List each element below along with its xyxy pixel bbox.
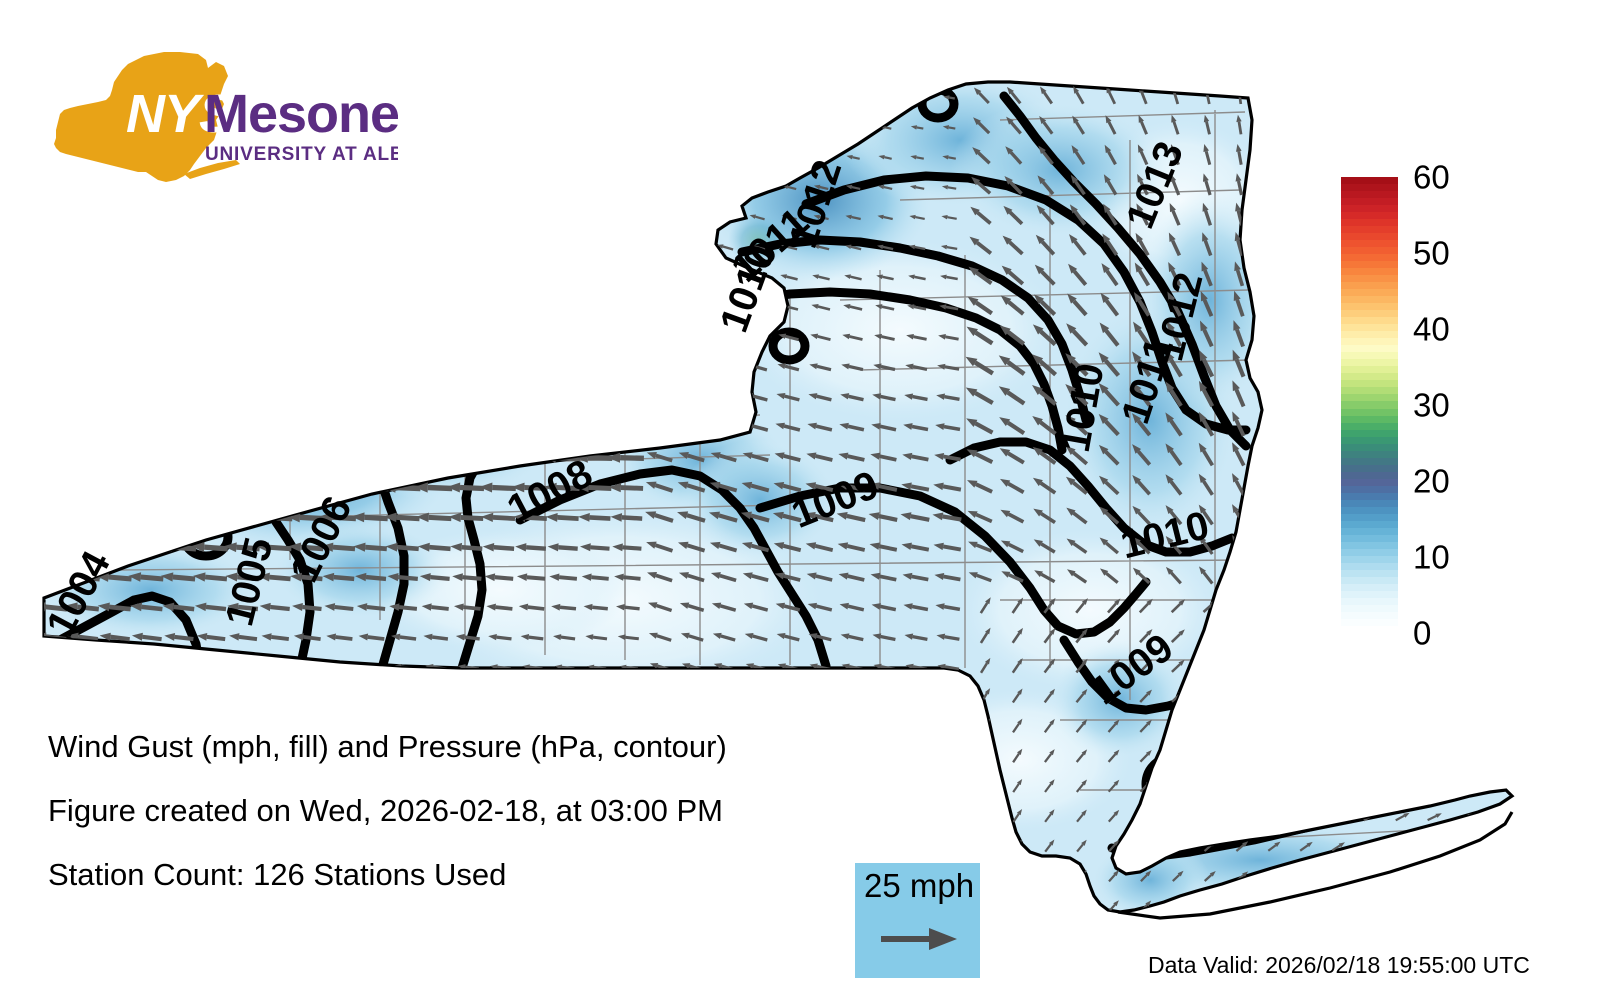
wind-arrow [29,541,69,553]
wind-arrow [575,214,611,225]
wind-arrow [1077,899,1088,912]
wind-arrow [1332,261,1339,286]
wind-arrow [1330,349,1339,377]
wind-arrow [1170,85,1178,104]
wind-arrow [877,784,893,790]
wind-arrow [615,96,640,104]
wind-arrow [1135,143,1147,164]
wind-arrow [1329,379,1338,407]
wind-arrow [510,452,549,463]
wind-arrow [1133,231,1148,255]
wind-arrow [614,573,641,581]
wind-arrow [909,214,925,220]
wind-arrow [223,541,259,552]
wind-arrow [512,185,547,196]
wind-arrow [1109,869,1121,882]
wind-arrow [645,478,673,490]
wind-arrow [981,657,992,673]
wind-arrow [1163,472,1181,494]
wind-arrow [909,814,925,820]
wind-arrow [648,390,672,400]
wind-arrow [1172,688,1186,701]
wind-arrow [1491,662,1508,670]
wind-arrow [1201,172,1210,195]
wind-arrow [599,362,648,376]
wind-arrow [843,723,862,730]
wind-arrow [682,331,703,340]
wind-arrow [1099,232,1116,255]
wind-arrow [1140,627,1154,642]
wind-arrow [54,391,104,405]
wind-arrow [648,630,671,640]
wind-arrow [719,93,731,99]
wind-arrow [360,663,383,670]
wind-arrow [514,155,546,165]
wind-arrow [319,512,356,523]
wind-arrow [777,661,799,669]
wind-arrow [90,481,134,493]
wind-arrow [966,508,992,522]
wind-arrow [1364,841,1378,851]
wind-arrow [1268,144,1274,165]
wind-arrow [91,184,133,197]
wind-arrow [814,874,828,880]
wind-arrow [438,391,488,405]
contour-label-1011: 1011 [1113,333,1182,429]
wind-arrow [1268,659,1283,671]
wind-arrow [1364,811,1379,821]
wind-arrow [606,244,644,255]
wind-arrow [869,480,897,490]
wind-arrow [813,813,828,819]
wind-arrow [121,451,167,464]
wind-arrow [1329,441,1338,466]
wind-arrow [583,603,608,610]
wind-arrow [903,602,928,610]
wind-arrow [1014,898,1024,911]
wind-arrow [1296,471,1307,495]
wind-arrow [1108,657,1122,672]
wind-arrow [126,541,164,552]
wind-arrow [909,184,924,190]
wind-arrow [1332,870,1346,880]
wind-arrow [118,332,168,346]
wind-arrow [1003,144,1021,163]
wind-arrow [579,155,610,165]
wind-arrow [998,292,1023,314]
wind-arrow [968,569,992,580]
wind-arrow [996,352,1024,374]
wind-arrow [982,838,992,852]
wind-arrow [1045,657,1057,672]
wind-arrow [652,272,670,280]
wind-arrow [678,449,705,460]
wind-arrow [198,662,224,670]
wind-arrow [473,303,519,316]
wind-arrow [1102,143,1115,164]
wind-arrow [1230,564,1244,584]
wind-arrow [1130,319,1149,345]
wind-arrow [1167,202,1179,225]
wind-arrow [877,814,893,820]
wind-arrow [1493,117,1503,133]
wind-arrow [544,482,580,492]
wind-arrow [941,214,957,219]
wind-arrow [1491,752,1507,760]
wind-arrow [31,571,68,582]
wind-arrow [1269,85,1274,103]
wind-arrow [577,185,611,195]
wind-arrow [505,303,550,316]
wind-arrow [1077,778,1089,792]
colorbar-tick-0: 0 [1413,617,1431,650]
nys-mesonet-logo: NYS Mesonet UNIVERSITY AT ALBANY [48,48,398,183]
wind-arrow [981,626,993,643]
wind-arrow [1202,114,1209,134]
wind-arrow [777,361,799,369]
wind-arrow [1332,780,1347,791]
wind-arrow [1262,441,1275,466]
wind-arrow [1329,502,1338,525]
wind-arrow [1131,290,1149,316]
wind-arrow [379,244,421,257]
wind-arrow [1036,144,1053,164]
wind-arrow [1130,504,1149,524]
wind-arrow [324,602,353,611]
wind-arrow [193,571,227,581]
wind-arrow [1332,232,1339,256]
wind-arrow [653,213,669,220]
wind-arrow [807,601,832,610]
wind-arrow [502,421,552,435]
data-valid-timestamp: Data Valid: 2026/02/18 19:55:00 UTC [1148,952,1530,978]
wind-arrow [1363,690,1379,701]
wind-arrow [377,273,422,286]
wind-arrow [470,421,520,435]
contour-label-1012: 1012 [781,155,850,253]
wind-arrow [1333,174,1339,195]
wind-arrow [1130,473,1150,495]
wind-arrow [218,451,262,463]
wind-arrow [1002,174,1021,194]
wind-arrow [1204,749,1218,761]
wind-arrow [647,420,672,431]
wind-arrow [214,362,264,376]
wind-arrow [542,452,580,463]
wind-arrow [582,96,608,104]
wind-arrow [966,264,991,284]
wind-arrow [613,126,641,135]
wind-arrow [1300,202,1307,225]
wind-arrow [406,391,456,405]
wind-arrow [185,243,231,257]
wind-arrow [1364,871,1378,881]
wind-arrow [813,783,829,789]
wind-arrow [810,692,830,699]
wind-arrow [1267,629,1283,642]
wind-arrow [934,571,961,580]
wind-arrow [677,539,705,551]
wind-arrow [56,451,103,464]
wind-arrow [718,153,732,159]
wind-arrow [416,512,451,522]
wind-arrow [1162,410,1181,435]
wind-arrow [1141,779,1154,792]
wind-arrow [900,510,930,520]
wind-arrow [488,633,512,640]
wind-arrow [874,693,894,700]
wind-arrow [1460,902,1474,910]
wind-arrow [412,244,454,257]
wind-arrow [1232,260,1243,286]
wind-arrow [981,687,992,703]
wind-arrow [870,451,897,460]
wind-arrow [1070,114,1084,134]
contour-label-1009: 1009 [1083,626,1181,714]
wind-arrow [414,482,452,493]
wind-arrow [135,692,160,700]
wind-arrow [454,603,481,611]
wind-arrow [278,391,328,405]
wind-arrow [63,571,100,582]
wind-arrow [447,185,483,196]
wind-arrow [566,391,616,405]
wind-arrow [1395,721,1411,731]
wind-arrow [1197,565,1213,584]
wind-arrow [1196,472,1213,495]
wind-arrow [1045,898,1056,911]
wind-arrow [1134,173,1147,195]
wind-arrow [534,362,584,376]
wind-arrow [522,663,542,669]
wind-arrow [342,421,392,435]
wind-arrow [745,361,767,370]
wind-arrow [751,93,763,99]
wind-arrow [1367,115,1373,134]
wind-arrow [781,213,797,219]
wind-arrow [869,540,897,549]
wind-arrow [616,603,640,610]
wind-arrow [1163,503,1181,524]
wind-arrow [776,631,799,640]
wind-arrow [1031,506,1055,523]
wind-arrow [1331,690,1347,701]
wind-arrow [1167,172,1178,194]
wind-arrow [1031,292,1055,315]
wind-arrow [1459,782,1475,790]
wind-arrow [717,243,734,250]
wind-arrow [374,421,424,435]
wind-arrow [1300,173,1306,195]
wind-arrow [1199,231,1211,255]
wind-arrow [680,630,703,640]
wind-arrow [229,632,257,641]
wind-arrow [1229,503,1244,525]
wind-arrow [1069,143,1084,164]
wind-arrow [1095,350,1118,376]
wind-arrow [969,174,990,193]
wind-arrow [1045,748,1057,762]
wind-arrow [999,507,1024,522]
wind-arrow [1399,115,1406,133]
wind-arrow [1163,441,1181,465]
wind-arrow [903,421,928,429]
wind-arrow [1263,564,1275,584]
wind-arrow [1299,659,1315,671]
wind-arrow [905,362,927,369]
wind-arrow [215,273,263,287]
wind-arrow [812,273,830,279]
wind-arrow [1268,780,1282,791]
wind-arrow [288,542,323,552]
wind-arrow [94,541,133,552]
wind-arrow [840,391,864,399]
wind-arrow [189,511,228,522]
wind-arrow [70,692,96,700]
wind-gust-colorbar[interactable]: 6050403020100 [1341,177,1571,647]
wind-arrow [749,213,765,219]
wind-arrow [1236,659,1251,672]
wind-arrow [711,600,736,610]
wind-arrow [196,632,225,641]
wind-arrow [655,93,667,99]
contour-label-1005: 1005 [217,533,281,630]
wind-arrow [1067,202,1085,224]
wind-arrow [942,184,957,189]
wind-arrow [1197,290,1211,317]
wind-arrow [556,694,573,699]
wind-arrow [1299,599,1316,612]
wind-arrow [743,420,768,430]
contour-label-1004: 1004 [38,544,119,644]
wind-arrow [1235,143,1242,164]
wind-arrow [846,124,859,130]
wind-arrow [1097,504,1118,523]
wind-arrow [1395,691,1411,701]
wind-arrow [182,391,232,405]
wind-arrow [1396,841,1411,850]
wind-arrow [1333,203,1339,225]
wind-arrow [290,572,323,582]
wind-arrow [938,333,959,340]
wind-arrow [935,422,960,430]
logo-svg: NYS Mesonet UNIVERSITY AT ALBANY [48,48,398,183]
wind-arrow [776,391,800,400]
wind-arrow [358,632,384,640]
wind-arrow [843,303,862,310]
wind-arrow [815,94,827,100]
wind-arrow [477,452,516,463]
wind-arrow [877,184,892,190]
wind-arrow [907,303,926,309]
wind-arrow [1493,146,1503,164]
wind-arrow [507,273,550,286]
wind-arrow [1399,86,1406,103]
contour-label-1013: 1013 [1118,136,1192,235]
wind-arrow [1201,143,1209,164]
wind-arrow [160,571,195,581]
wind-arrow [1268,689,1283,701]
wind-arrow [685,243,701,250]
wind-arrow [1063,412,1087,434]
wind-arrow [1013,717,1024,732]
wind-arrow [186,214,229,227]
wind-arrow [188,184,229,197]
logo-mesonet-text: Mesonet [204,84,398,144]
wind-arrow [1109,839,1121,852]
wind-arrow [1329,564,1338,584]
wind-arrow [1096,411,1118,434]
wind-arrow [873,662,895,669]
wind-arrow [1133,202,1147,225]
wind-arrow [939,303,958,309]
wind-arrow [183,273,232,287]
wind-arrow [459,694,478,700]
wind-arrow [1164,565,1181,583]
wind-arrow [150,332,200,346]
wind-arrow [1030,413,1056,434]
wind-arrow [415,185,452,196]
wind-arrow [906,333,927,340]
colorbar-tick-20: 20 [1413,465,1450,498]
wind-arrow [908,753,926,759]
wind-arrow [1330,319,1338,346]
wind-arrow [1166,231,1180,255]
wind-arrow [781,243,798,249]
wind-arrow [1329,471,1338,495]
wind-arrow [1460,872,1475,880]
wind-arrow [566,421,616,435]
wind-arrow [22,272,72,287]
wind-arrow [1264,290,1274,317]
wind-arrow [1299,629,1315,641]
wind-arrow [1237,870,1250,881]
wind-arrow [746,332,767,340]
wind-arrow [1165,260,1180,285]
wind-arrow [1427,721,1443,730]
wind-arrow [1132,261,1149,286]
wind-arrow [1013,838,1023,852]
wind-arrow [709,539,737,550]
wind-arrow [455,633,479,641]
wind-arrow [187,481,229,493]
wind-arrow [348,214,388,226]
wind-arrow [550,96,576,105]
wind-arrow [981,747,992,762]
wind-arrow [1492,842,1507,850]
caption-station-count: Station Count: 126 Stations Used [48,843,808,907]
wind-arrow [868,510,897,520]
wind-arrow [510,214,547,225]
wind-arrow [1077,868,1088,881]
wind-arrow [839,421,864,430]
wind-arrow [901,541,929,550]
wind-arrow [1033,567,1055,581]
wind-arrow [964,323,992,343]
wind-arrow [1460,812,1475,820]
wind-arrow [1267,173,1274,195]
wind-arrow [1234,173,1242,195]
wind-arrow [1172,658,1186,672]
wind-arrow [1296,533,1307,554]
wind-arrow [427,693,447,699]
wind-arrow [1236,779,1250,791]
wind-arrow [1230,319,1243,347]
wind-arrow [747,302,766,310]
wind-arrow [310,421,360,435]
wind-arrow [933,481,961,490]
wind-arrow [581,126,609,135]
